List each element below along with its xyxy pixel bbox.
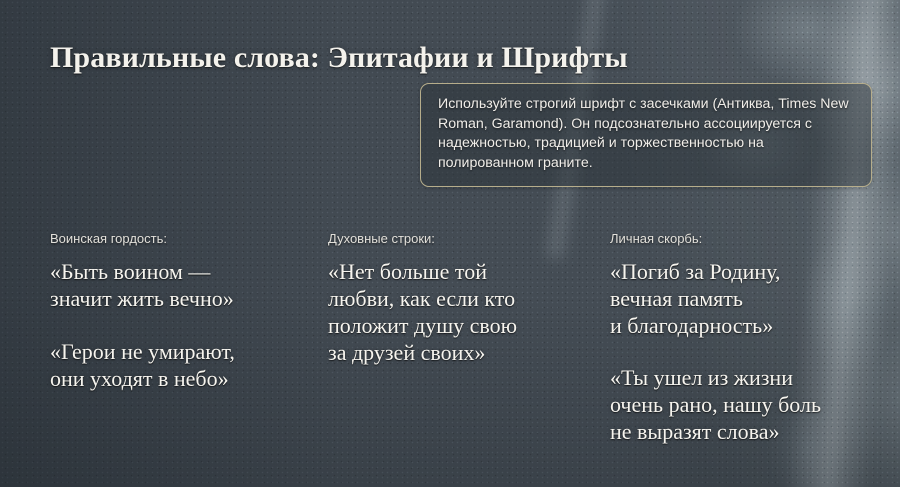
- column-label: Воинская гордость:: [50, 231, 328, 247]
- slide-content: Правильные слова: Эпитафии и Шрифты Испо…: [0, 0, 900, 487]
- epitaph-column-personal-grief: Личная скорбь: «Погиб за Родину, вечная …: [610, 231, 880, 445]
- slide-title: Правильные слова: Эпитафии и Шрифты: [50, 41, 628, 74]
- epitaph-quote: «Быть воином — значит жить вечно»: [50, 258, 328, 312]
- column-label: Духовные строки:: [328, 231, 610, 247]
- epitaph-quote: «Герои не умирают, они уходят в небо»: [50, 338, 328, 392]
- presentation-slide: Правильные слова: Эпитафии и Шрифты Испо…: [0, 0, 900, 487]
- epitaph-quote: «Нет больше той любви, как если кто поло…: [328, 258, 610, 366]
- font-advice-callout-box: Используйте строгий шрифт с засечками (А…: [420, 83, 872, 187]
- epitaph-column-military-pride: Воинская гордость: «Быть воином — значит…: [50, 231, 328, 445]
- font-advice-text: Используйте строгий шрифт с засечками (А…: [438, 95, 855, 173]
- epitaph-column-spiritual-lines: Духовные строки: «Нет больше той любви, …: [328, 231, 610, 445]
- column-label: Личная скорбь:: [610, 231, 880, 247]
- epitaph-quote: «Ты ушел из жизни очень рано, нашу боль …: [610, 364, 880, 445]
- epitaph-columns: Воинская гордость: «Быть воином — значит…: [50, 231, 880, 445]
- epitaph-quote: «Погиб за Родину, вечная память и благод…: [610, 258, 880, 339]
